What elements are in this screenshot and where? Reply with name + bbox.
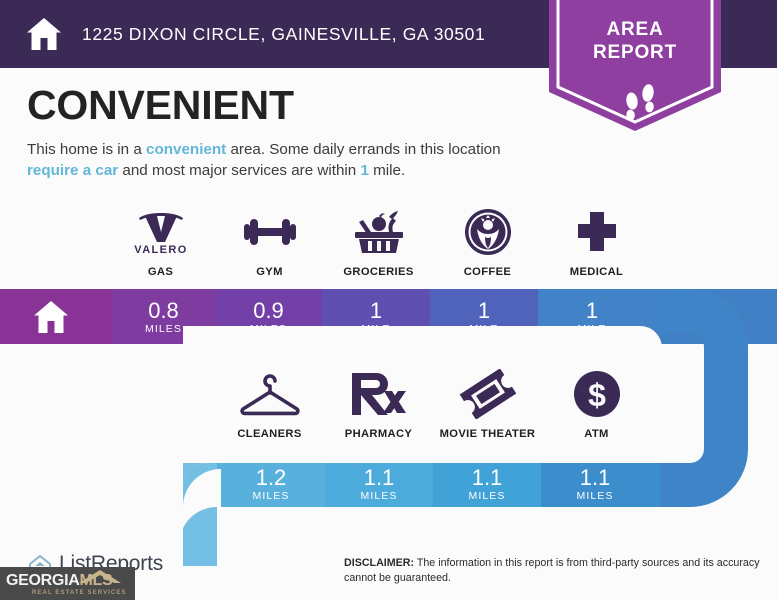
- distance-unit: MILES: [468, 490, 505, 502]
- distance-groceries: 1 MILE: [322, 296, 430, 338]
- amenity-cleaners: CLEANERS: [215, 368, 324, 440]
- amenity-gym: GYM: [215, 206, 324, 278]
- distance-unit: MILE: [470, 323, 499, 335]
- distance-value: 1: [370, 299, 382, 322]
- page-title: CONVENIENT: [27, 82, 294, 129]
- distance-value: 0.9: [253, 299, 284, 322]
- valero-logo-icon: VALERO: [131, 206, 191, 258]
- amenity-row-bottom: CLEANERS PHARMACY: [215, 368, 651, 440]
- description-highlight: require a car: [27, 162, 118, 179]
- grocery-basket-icon: [349, 206, 409, 258]
- medical-cross-icon: [572, 206, 622, 258]
- amenity-pharmacy: PHARMACY: [324, 368, 433, 440]
- watermark-georgia: GEORGIA: [6, 572, 79, 589]
- description-text: mile.: [369, 162, 405, 179]
- amenity-atm: $ ATM: [542, 368, 651, 440]
- dollar-circle-icon: $: [572, 368, 622, 420]
- distance-value: 1.1: [472, 466, 503, 489]
- distance-unit: MILE: [578, 323, 607, 335]
- description-highlight: 1: [360, 162, 368, 179]
- distance-pharmacy: 1.1 MILES: [325, 463, 433, 505]
- svg-text:VALERO: VALERO: [134, 244, 187, 256]
- bar-left-cap: [0, 289, 22, 344]
- distance-gym: 0.9 MILES: [215, 296, 322, 338]
- distance-unit: MILES: [576, 490, 613, 502]
- distance-value: 0.8: [148, 299, 179, 322]
- amenity-label: CLEANERS: [237, 428, 301, 440]
- distance-value: 1.2: [256, 466, 287, 489]
- rx-icon: [351, 368, 407, 420]
- description-text: and most major services are within: [118, 162, 360, 179]
- badge-text: AREA REPORT: [549, 18, 721, 64]
- distance-unit: MILE: [362, 323, 391, 335]
- distance-unit: MILES: [250, 323, 287, 335]
- distance-gas: 0.8 MILES: [112, 296, 215, 338]
- disclaimer-label: DISCLAIMER:: [344, 557, 414, 569]
- amenity-row-top: VALERO GAS GYM: [106, 206, 651, 278]
- watermark-roof-icon: [78, 568, 122, 584]
- property-address: 1225 DIXON CIRCLE, GAINESVILLE, GA 30501: [82, 24, 485, 45]
- distance-unit: MILES: [360, 490, 397, 502]
- distance-value: 1.1: [364, 466, 395, 489]
- distance-coffee: 1 MILE: [430, 296, 538, 338]
- clothes-hanger-icon: [235, 368, 305, 420]
- amenity-label: MEDICAL: [570, 266, 623, 278]
- dumbbell-icon: [240, 206, 300, 258]
- page-description: This home is in a convenient area. Some …: [27, 139, 547, 181]
- distance-unit: MILES: [145, 323, 182, 335]
- amenity-movie-theater: MOVIE THEATER: [433, 368, 542, 440]
- home-icon: [26, 17, 62, 51]
- disclaimer: DISCLAIMER: The information in this repo…: [344, 556, 764, 585]
- starbucks-logo-icon: [463, 206, 513, 258]
- description-text: area. Some daily errands in this locatio…: [226, 141, 500, 158]
- distance-value: 1.1: [580, 466, 611, 489]
- amenity-label: COFFEE: [464, 266, 511, 278]
- distance-cleaners: 1.2 MILES: [217, 463, 325, 505]
- svg-text:$: $: [588, 377, 606, 413]
- amenity-label: GAS: [148, 266, 173, 278]
- distance-movie-theater: 1.1 MILES: [433, 463, 541, 505]
- badge-line-1: AREA: [549, 18, 721, 41]
- amenity-groceries: GROCERIES: [324, 206, 433, 278]
- description-highlight: convenient: [146, 141, 226, 158]
- movie-ticket-icon: [458, 368, 518, 420]
- watermark-subtitle: REAL ESTATE SERVICES: [32, 590, 127, 596]
- distance-value: 1: [586, 299, 598, 322]
- amenity-label: ATM: [584, 428, 608, 440]
- distance-medical: 1 MILE: [538, 296, 646, 338]
- distance-atm: 1.1 MILES: [541, 463, 649, 505]
- area-report-page: 1225 DIXON CIRCLE, GAINESVILLE, GA 30501…: [0, 0, 777, 600]
- amenity-label: PHARMACY: [345, 428, 412, 440]
- amenity-medical: MEDICAL: [542, 206, 651, 278]
- area-report-badge: AREA REPORT: [549, 0, 721, 131]
- georgia-mls-watermark: GEORGIAMLS REAL ESTATE SERVICES: [0, 567, 135, 600]
- badge-line-2: REPORT: [549, 41, 721, 64]
- distance-value: 1: [478, 299, 490, 322]
- description-text: This home is in a: [27, 141, 146, 158]
- amenity-coffee: COFFEE: [433, 206, 542, 278]
- amenity-label: GROCERIES: [343, 266, 413, 278]
- home-icon-bar: [33, 300, 69, 334]
- amenity-label: GYM: [256, 266, 283, 278]
- distance-unit: MILES: [252, 490, 289, 502]
- amenity-label: MOVIE THEATER: [440, 428, 536, 440]
- amenity-gas: VALERO GAS: [106, 206, 215, 278]
